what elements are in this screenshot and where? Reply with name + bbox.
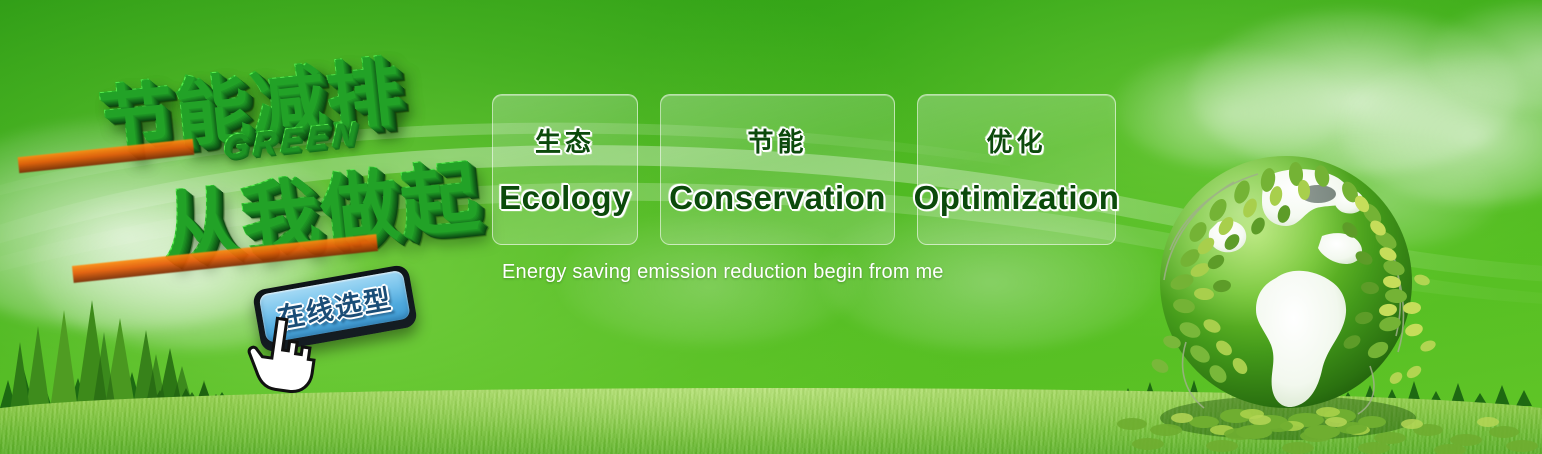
feature-card-optimization[interactable]: 优化 Optimization — [917, 94, 1116, 245]
feature-card-conservation[interactable]: 节能 Conservation — [660, 94, 895, 245]
eco-promo-banner: 节能减排 节能减排 GREEN 从我做起 在线选型 生态 Ecology 节能 … — [0, 0, 1542, 454]
feature-card-title-cn: 优化 — [986, 122, 1046, 159]
feature-cards: 生态 Ecology 节能 Conservation 优化 Optimizati… — [492, 94, 1116, 245]
leaf-icon — [1112, 384, 1542, 454]
feature-card-title-en: Conservation — [669, 179, 886, 217]
feature-card-title-cn: 生态 — [535, 122, 595, 159]
cloud-icon — [1430, 0, 1542, 110]
feature-card-title-en: Optimization — [914, 179, 1120, 217]
feature-card-ecology[interactable]: 生态 Ecology — [492, 94, 638, 245]
banner-tagline: Energy saving emission reduction begin f… — [502, 261, 944, 284]
feature-card-title-en: Ecology — [499, 179, 631, 217]
feature-card-title-cn: 节能 — [747, 122, 807, 159]
